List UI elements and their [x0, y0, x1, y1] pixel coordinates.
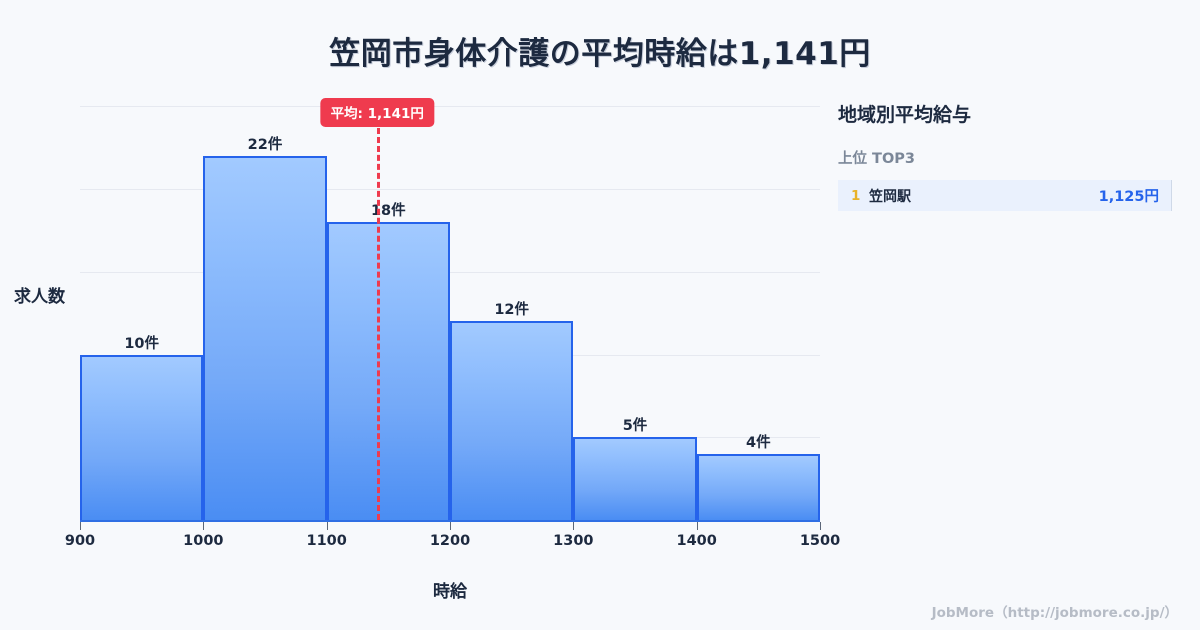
rank-salary-value: 1,125円 — [1099, 185, 1159, 206]
region-salary-panel: 地域別平均給与 上位 TOP3 1笠岡駅1,125円 — [838, 100, 1178, 211]
x-axis-tick — [573, 522, 574, 530]
bar-value-label: 18件 — [327, 199, 450, 220]
histogram-chart: 求人数 10件22件18件12件5件4件平均: 1,141円 900100011… — [0, 90, 830, 600]
average-line — [377, 128, 380, 520]
sidebar-heading: 地域別平均給与 — [838, 100, 1178, 127]
x-axis-tick — [327, 522, 328, 530]
gridline — [80, 272, 820, 273]
sidebar-subheading: 上位 TOP3 — [838, 147, 1178, 168]
histogram-bar — [697, 454, 820, 520]
page-title: 笠岡市身体介護の平均時給は1,141円 — [0, 28, 1200, 73]
y-axis-title: 求人数 — [14, 282, 65, 307]
rank-number: 1 — [851, 188, 869, 204]
x-axis-tick-label: 1000 — [183, 533, 223, 549]
average-badge: 平均: 1,141円 — [321, 98, 434, 127]
x-axis-tick-label: 1300 — [553, 533, 593, 549]
x-axis-tick-label: 1100 — [306, 533, 346, 549]
bar-value-label: 10件 — [80, 332, 203, 353]
bar-value-label: 22件 — [203, 133, 326, 154]
bar-value-label: 4件 — [697, 431, 820, 452]
histogram-bar — [327, 222, 450, 520]
x-axis-tick-label: 1400 — [676, 533, 716, 549]
rank-row[interactable]: 1笠岡駅1,125円 — [838, 180, 1172, 211]
histogram-bar — [573, 437, 696, 520]
histogram-bar — [450, 321, 573, 520]
x-axis-tick — [203, 522, 204, 530]
footer-credit: JobMore（http://jobmore.co.jp/） — [932, 601, 1178, 621]
x-axis-tick-label: 900 — [65, 533, 95, 549]
gridline — [80, 106, 820, 107]
x-axis-tick — [80, 522, 81, 530]
x-axis-tick — [450, 522, 451, 530]
x-axis-tick-label: 1500 — [800, 533, 840, 549]
plot-area: 10件22件18件12件5件4件平均: 1,141円 — [80, 98, 820, 520]
x-axis-title: 時給 — [80, 577, 820, 602]
x-axis-tick — [697, 522, 698, 530]
x-axis-tick-label: 1200 — [430, 533, 470, 549]
x-axis-tick — [820, 522, 821, 530]
bar-value-label: 5件 — [573, 414, 696, 435]
histogram-bar — [203, 156, 326, 520]
bar-value-label: 12件 — [450, 298, 573, 319]
gridline — [80, 189, 820, 190]
rank-list: 1笠岡駅1,125円 — [838, 180, 1172, 211]
histogram-bar — [80, 355, 203, 520]
rank-station-name: 笠岡駅 — [869, 186, 1099, 206]
